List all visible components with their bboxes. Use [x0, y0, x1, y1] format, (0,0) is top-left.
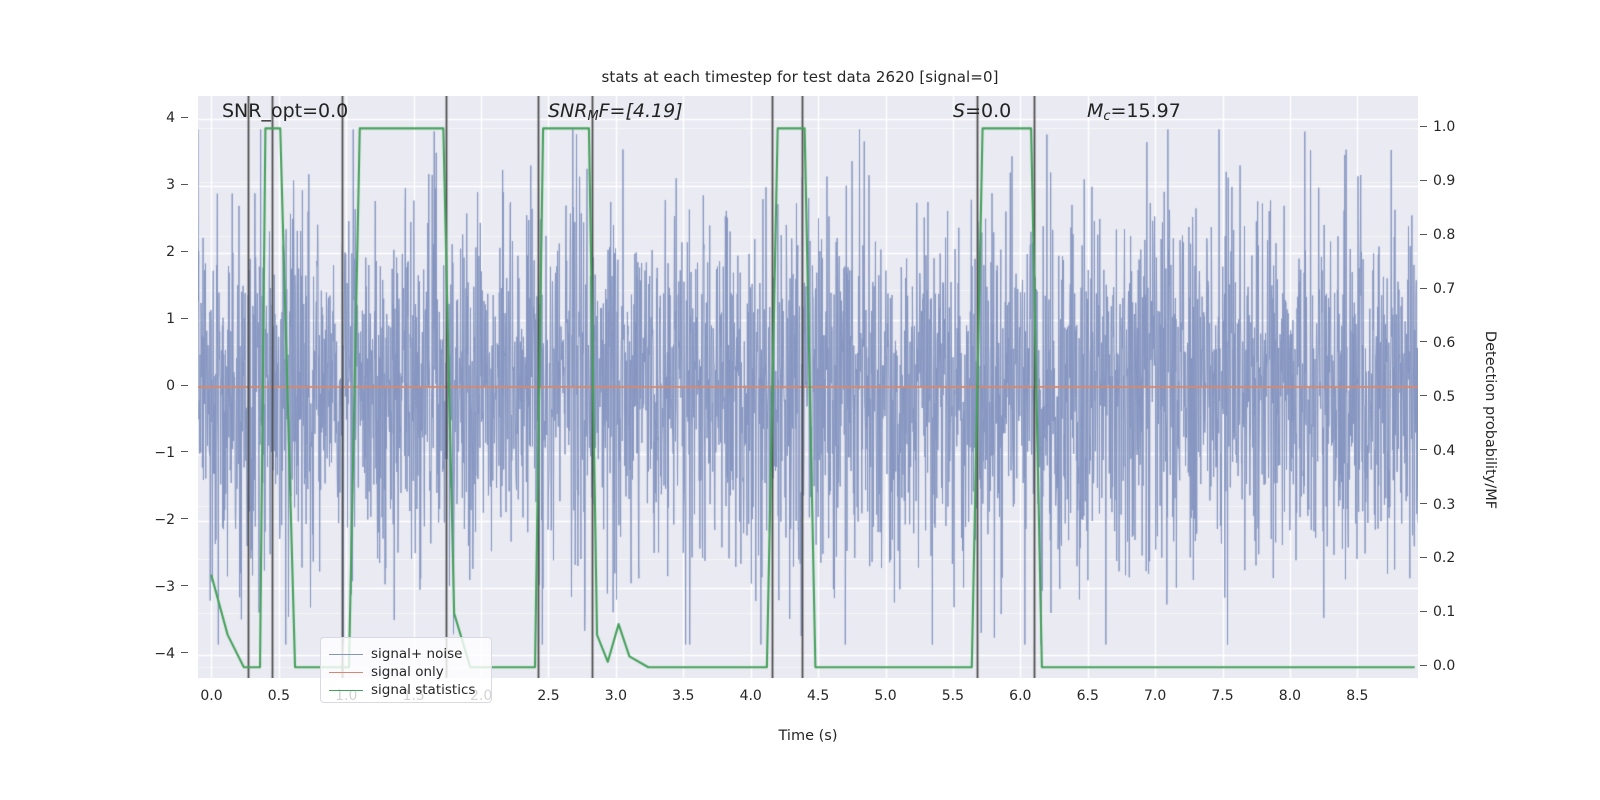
annotation-snr-mf-tail: F=[4.19]	[599, 100, 683, 122]
annotation-snr-mf-symbol: SNR	[548, 100, 587, 122]
y-tick-left: −4	[154, 646, 188, 662]
y-tick-right: 0.9	[1420, 173, 1455, 189]
legend-item[interactable]: signal statistics	[329, 681, 483, 699]
x-axis-label: Time (s)	[198, 728, 1418, 744]
x-tick: 6.5	[1077, 688, 1099, 704]
y-axis-label-right: Detection probability/MF	[1482, 250, 1498, 590]
legend-swatch-0	[329, 654, 363, 655]
annotation-s-stat: S=0.0	[953, 100, 1011, 122]
plot-area	[198, 96, 1418, 678]
annotation-snr-opt: SNR_opt=0.0	[222, 100, 348, 122]
x-tick: 6.0	[1009, 688, 1031, 704]
matplotlib-figure: stats at each timestep for test data 262…	[0, 0, 1600, 800]
annotation-s-symbol: S	[953, 100, 965, 122]
x-tick: 4.0	[740, 688, 762, 704]
x-tick: 5.0	[874, 688, 896, 704]
x-tick: 5.5	[942, 688, 964, 704]
y-tick-right: 0.6	[1420, 335, 1455, 351]
annotation-chirp-mass: Mc=15.97	[1087, 100, 1181, 124]
y-tick-right: 0.7	[1420, 281, 1455, 297]
legend-item[interactable]: signal+ noise	[329, 645, 483, 663]
legend-label: signal+ noise	[371, 645, 462, 663]
x-tick: 3.0	[605, 688, 627, 704]
annotation-snr-mf: SNRMF=[4.19]	[548, 100, 683, 124]
annotation-mc-tail: =15.97	[1111, 100, 1181, 122]
legend-swatch-2	[329, 690, 363, 691]
legend-label: signal only	[371, 663, 444, 681]
x-tick: 0.0	[200, 688, 222, 704]
x-tick: 0.5	[268, 688, 290, 704]
legend-item[interactable]: signal only	[329, 663, 483, 681]
y-tick-left: −3	[154, 579, 188, 595]
y-tick-right: 0.4	[1420, 443, 1455, 459]
legend[interactable]: signal+ noisesignal onlysignal statistic…	[320, 637, 492, 703]
annotation-s-tail: =0.0	[965, 100, 1011, 122]
y-tick-left: 2	[166, 244, 188, 260]
y-tick-right: 0.8	[1420, 227, 1455, 243]
y-tick-left: −1	[154, 445, 188, 461]
y-tick-right: 1.0	[1420, 119, 1455, 135]
x-tick: 3.5	[672, 688, 694, 704]
annotation-mc-symbol: M	[1087, 100, 1103, 122]
x-tick: 8.5	[1346, 688, 1368, 704]
x-tick: 8.0	[1279, 688, 1301, 704]
x-tick: 2.5	[537, 688, 559, 704]
y-tick-right: 0.1	[1420, 604, 1455, 620]
annotation-mc-sub: c	[1103, 109, 1110, 124]
y-tick-left: −2	[154, 512, 188, 528]
legend-swatch-1	[329, 672, 363, 673]
page-title: stats at each timestep for test data 262…	[0, 68, 1600, 86]
y-tick-right: 0.2	[1420, 550, 1455, 566]
y-tick-right: 0.3	[1420, 497, 1455, 513]
y-tick-left: 3	[166, 177, 188, 193]
y-tick-left: 1	[166, 311, 188, 327]
data-layer	[198, 96, 1418, 678]
y-tick-left: 4	[166, 110, 188, 126]
x-tick: 4.5	[807, 688, 829, 704]
y-tick-right: 0.0	[1420, 658, 1455, 674]
annotation-snr-mf-sub: M	[587, 109, 598, 124]
y-tick-left: 0	[166, 378, 188, 394]
x-tick: 7.0	[1144, 688, 1166, 704]
y-tick-right: 0.5	[1420, 389, 1455, 405]
legend-label: signal statistics	[371, 681, 475, 699]
x-tick: 7.5	[1211, 688, 1233, 704]
